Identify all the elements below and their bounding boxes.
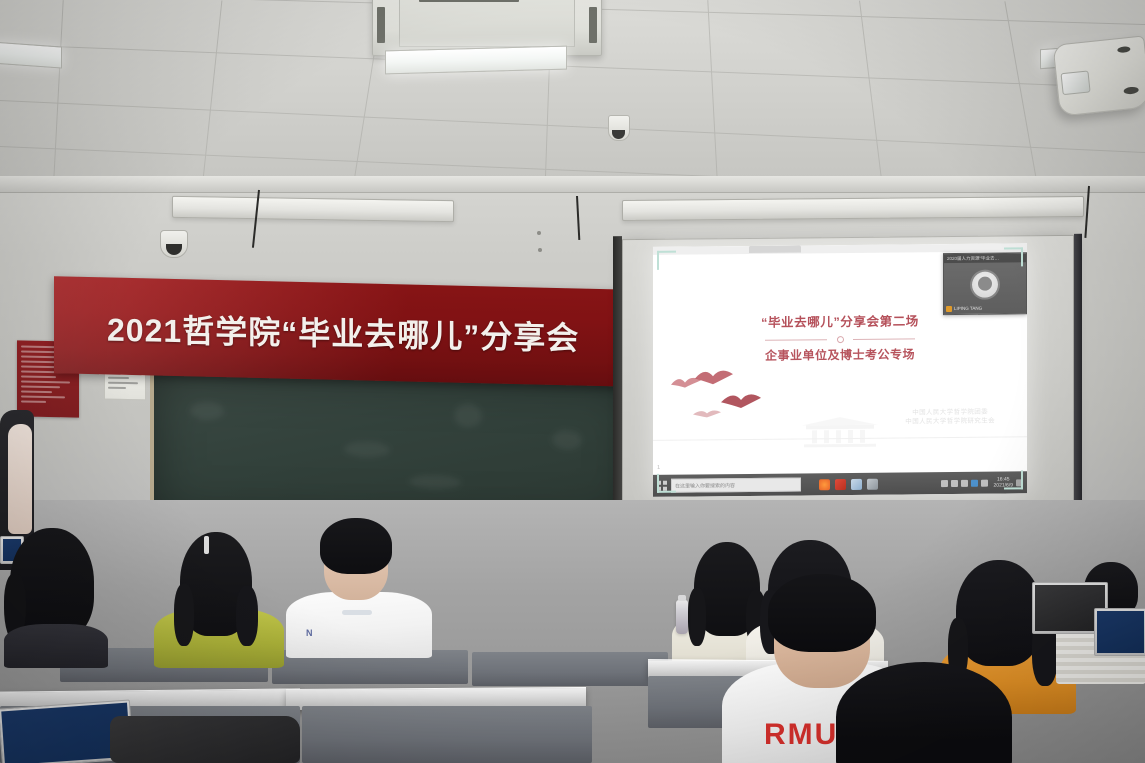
network-icon[interactable] — [941, 480, 948, 487]
projector-vent-2 — [1123, 86, 1139, 95]
ceiling-projector — [1052, 35, 1145, 116]
pip-window-label: 2020届人力资源“毕业去… — [947, 255, 999, 261]
avatar — [972, 272, 998, 298]
hair-clip — [204, 536, 209, 554]
bottle-cap — [678, 595, 686, 601]
ime-icon[interactable] — [971, 479, 978, 486]
slide-org-line-2: 中国人民大学哲学院研究生会 — [905, 417, 995, 427]
projection-screen[interactable]: “毕业去哪儿”分享会第二场 企事业单位及博士考公专场 中国人民大学哲学院团委 中… — [622, 235, 1074, 519]
slide-app-tab[interactable] — [749, 245, 801, 252]
water-bottle[interactable] — [676, 600, 688, 634]
slide-page-badge: 1 — [657, 465, 660, 471]
windows-taskbar[interactable]: 在这里输入你要搜索的内容 16:45 2021/6/9 — [653, 471, 1027, 497]
taskbar-app-icons[interactable] — [819, 478, 878, 490]
mail-icon[interactable] — [867, 478, 878, 489]
search-input[interactable]: 在这里输入你要搜索的内容 — [671, 477, 801, 492]
screen-bezel-right — [1074, 234, 1082, 518]
wall-top-molding — [0, 176, 1145, 193]
screen-corner-marker-tr — [1004, 247, 1023, 266]
slide-organizers: 中国人民大学哲学院团委 中国人民大学哲学院研究生会 — [905, 408, 995, 427]
wall-security-camera — [160, 230, 188, 258]
shirt-logo: N — [306, 628, 313, 638]
chair-back-r2-3[interactable] — [472, 652, 668, 686]
screen-corner-marker-bl — [657, 474, 676, 493]
screen-bezel-left — [613, 236, 622, 522]
screen-corner-marker-tl — [657, 251, 676, 270]
search-placeholder: 在这里输入你要搜索的内容 — [675, 482, 735, 490]
ac-vent-top — [419, 0, 519, 2]
student-2 — [150, 532, 290, 656]
shirt-text-rmu: RMU — [764, 718, 838, 752]
projector-lens — [1060, 70, 1090, 95]
presentation-slide[interactable]: “毕业去哪儿”分享会第二场 企事业单位及博士考公专场 中国人民大学哲学院团委 中… — [653, 243, 1027, 475]
ceiling-light-left — [0, 41, 62, 68]
university-watermark — [792, 411, 888, 452]
classroom-photo-scene: 2021哲学院“毕业去哪儿”分享会 “毕业去哪儿”分享会第二场 企事业单位及博士… — [0, 0, 1145, 763]
projected-display[interactable]: “毕业去哪儿”分享会第二场 企事业单位及博士考公专场 中国人民大学哲学院团委 中… — [653, 243, 1027, 497]
backpack[interactable] — [110, 716, 300, 763]
explorer-icon[interactable] — [851, 478, 862, 489]
browser-icon[interactable] — [819, 479, 830, 490]
slide-title-divider — [765, 334, 915, 344]
ceiling — [0, 0, 1145, 180]
screen-corner-marker-br — [1004, 470, 1023, 489]
cloud-icon[interactable] — [981, 479, 988, 486]
student-8 — [836, 662, 1012, 763]
ac-vent-left — [377, 7, 385, 43]
volume-icon[interactable] — [951, 479, 958, 486]
laptop-computer-2[interactable] — [1094, 608, 1145, 656]
event-banner: 2021哲学院“毕业去哪儿”分享会 — [54, 276, 632, 387]
event-banner-text: 2021哲学院“毕业去哪儿”分享会 — [107, 304, 579, 359]
flying-birds-illustration — [663, 358, 793, 431]
laptop-screen-2 — [1097, 611, 1144, 653]
ac-inner-panel — [399, 0, 575, 47]
projector-vent — [1117, 46, 1131, 53]
student-1 — [0, 528, 130, 652]
battery-icon[interactable] — [961, 479, 968, 486]
desk-front-center-panel — [302, 706, 592, 763]
wall-fixture-dot-1 — [537, 231, 541, 235]
office-icon[interactable] — [835, 479, 846, 490]
pip-participant-name: LIPING TANG — [954, 306, 982, 311]
collar — [342, 610, 372, 615]
wall-light-right — [622, 196, 1084, 221]
student-3: N — [286, 518, 432, 654]
wall-light-left — [172, 196, 454, 222]
pip-footer: LIPING TANG — [944, 303, 1026, 313]
wall-fixture-dot-2 — [538, 248, 542, 252]
ac-vent-right — [589, 7, 597, 43]
dome-security-camera — [608, 115, 630, 141]
microphone-muted-icon[interactable] — [946, 306, 952, 312]
ceiling-light-center — [385, 46, 567, 75]
